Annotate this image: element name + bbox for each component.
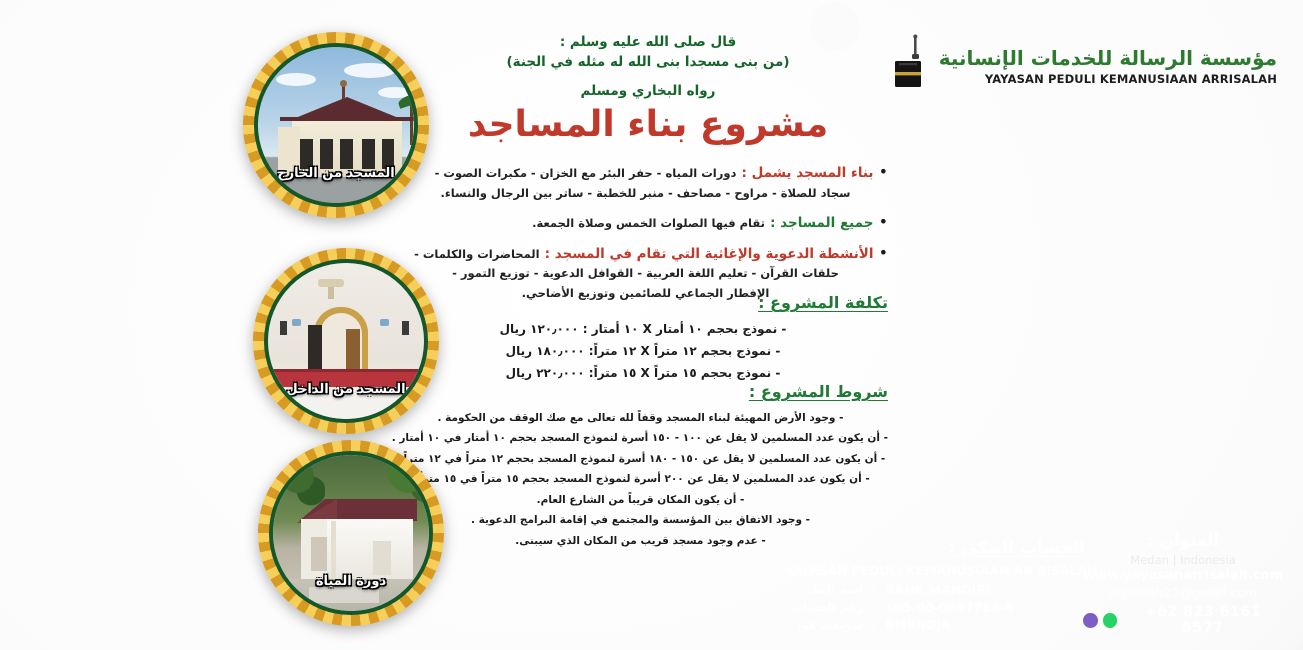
account-number-label: رقم الحساب	[785, 599, 863, 615]
bank-account-section: الحساب البنكي : YAYASAN PEDULI KEMANUSIA…	[785, 538, 1085, 634]
bullet-text-cont: حلقات القرآن - تعليم اللغة العربية - الق…	[403, 264, 888, 284]
whatsapp-icon	[1103, 613, 1118, 628]
terms-row: - أن يكون عدد المسلمين لا يقل عن ١٥٠ - ١…	[393, 449, 888, 469]
bullet-text: دورات المياه - حفر البئر مع الخزان - مكب…	[435, 166, 737, 180]
brand-header: مؤسسة الرسالة للخدمات الإنسانية YAYASAN …	[863, 34, 1277, 100]
bullet-text: المحاضرات والكلمات -	[414, 247, 540, 261]
brand-name-arabic: مؤسسة الرسالة للخدمات الإنسانية	[939, 48, 1277, 69]
bullet-dot: •	[879, 162, 888, 181]
website-link[interactable]: www.yayasanarrisalah.com	[1083, 568, 1283, 585]
terms-row: - أن يكون عدد المسلمين لا يقل عن ٢٠٠ أسر…	[393, 469, 888, 489]
swift-code-value: BMRIIDJA	[885, 616, 1085, 634]
description-list: • بناء المسجد يشمل : دورات المياه - حفر …	[403, 160, 888, 310]
bank-heading: الحساب البنكي :	[785, 538, 1085, 558]
row-colon: :	[863, 599, 885, 617]
terms-section: شروط المشروع : - وجود الأرض المهيئة لبنا…	[393, 382, 888, 551]
email-link[interactable]: arrisalah22@gmail.com	[1083, 585, 1283, 601]
phone-row[interactable]: +62 823 6161 5577	[1083, 604, 1283, 636]
terms-row: - أن يكون المكان قريباً من الشارع العام.	[393, 490, 888, 510]
bullet-heading: جميع المساجد :	[770, 215, 873, 231]
green-ring-frame: المسجد من الداخل	[264, 259, 428, 423]
row-colon: :	[863, 616, 885, 634]
cost-row: - نموذج بحجم ١٠ أمتار X ١٠ أمتار : ١٢٠٫٠…	[398, 318, 888, 340]
photo-toilet-building: دورة المياة	[258, 440, 444, 626]
list-item: • جميع المساجد : تقام فيها الصلوات الخمس…	[403, 210, 888, 234]
bullet-heading: بناء المسجد يشمل :	[742, 165, 874, 181]
cost-section: تكلفة المشروع : - نموذج بحجم ١٠ أمتار X …	[398, 293, 888, 385]
list-item: • بناء المسجد يشمل : دورات المياه - حفر …	[403, 160, 888, 203]
terms-heading: شروط المشروع :	[393, 382, 888, 401]
poster-canvas: مؤسسة الرسالة للخدمات الإنسانية YAYASAN …	[0, 0, 1303, 650]
row-colon: :	[863, 581, 885, 599]
viber-icon	[1083, 613, 1098, 628]
page-title: مشروع بناء المساجد	[413, 104, 883, 145]
table-row: 105-00-0097788-8 : رقم الحساب	[785, 599, 1085, 617]
terms-row: - وجود الأرض المهيئة لبناء المسجد وقفاً …	[393, 408, 888, 428]
table-row: BANK MANDIRI : اسم البنك	[785, 581, 1085, 599]
bank-name-value: BANK MANDIRI	[885, 581, 1085, 599]
swift-code-label: سويفت كود	[785, 617, 863, 633]
brand-name-latin: YAYASAN PEDULI KEMANUSIAAN ARRISALAH	[939, 73, 1277, 85]
hadith-source: رواه البخاري ومسلم	[413, 81, 883, 101]
address-heading: العنوان :	[1083, 531, 1283, 551]
bullet-text: تقام فيها الصلوات الخمس وصلاة الجمعة.	[532, 216, 765, 230]
address-city: Medan | Indonesia	[1083, 553, 1283, 567]
bullet-heading: الأنشطة الدعوية والإغاثية التي تقام في ا…	[545, 246, 874, 262]
bank-name-label: اسم البنك	[785, 581, 863, 597]
cost-heading: تكلفة المشروع :	[398, 293, 888, 312]
bullet-dot: •	[879, 212, 888, 231]
brand-text: مؤسسة الرسالة للخدمات الإنسانية YAYASAN …	[939, 48, 1277, 85]
photo-mosque-exterior: المسجد من الخارج	[243, 32, 429, 218]
photo-caption: دورة المياة	[273, 574, 429, 589]
terms-list: - وجود الأرض المهيئة لبناء المسجد وقفاً …	[393, 408, 888, 551]
hadith-line-1: قال صلى الله عليه وسلم :	[413, 32, 883, 52]
hadith-block: قال صلى الله عليه وسلم : (من بنى مسجدا ب…	[413, 32, 883, 101]
account-number-value: 105-00-0097788-8	[885, 599, 1085, 617]
address-section: العنوان : Medan | Indonesia www.yayasana…	[1083, 531, 1283, 636]
green-ring-frame: المسجد من الخارج	[254, 43, 418, 207]
hadith-line-2: (من بنى مسجدا بنى الله له مثله في الجنة)	[413, 52, 883, 72]
terms-row: - أن يكون عدد المسلمين لا يقل عن ١٠٠ - ١…	[393, 428, 888, 448]
photo-caption: المسجد من الداخل	[268, 382, 424, 397]
photo-mosque-interior: المسجد من الداخل	[253, 248, 439, 434]
cost-list: - نموذج بحجم ١٠ أمتار X ١٠ أمتار : ١٢٠٫٠…	[398, 318, 888, 385]
bullet-dot: •	[879, 243, 888, 262]
table-row: BMRIIDJA : سويفت كود	[785, 616, 1085, 634]
cost-row: - نموذج بحجم ١٢ متراً X ١٢ متراً: ١٨٠٫٠٠…	[398, 340, 888, 362]
bank-account-holder: YAYASAN PEDULI KEMANUSIAAN AR RISALAH	[785, 563, 1085, 578]
terms-row: - وجود الاتفاق بين المؤسسة والمجتمع في إ…	[393, 510, 888, 530]
bullet-text-cont: سجاد للصلاة - مراوح - مصاحف - منبر للخطب…	[403, 184, 888, 204]
green-ring-frame: دورة المياة	[269, 451, 433, 615]
phone-number: +62 823 6161 5577	[1122, 604, 1283, 636]
photo-caption: المسجد من الخارج	[258, 166, 414, 181]
